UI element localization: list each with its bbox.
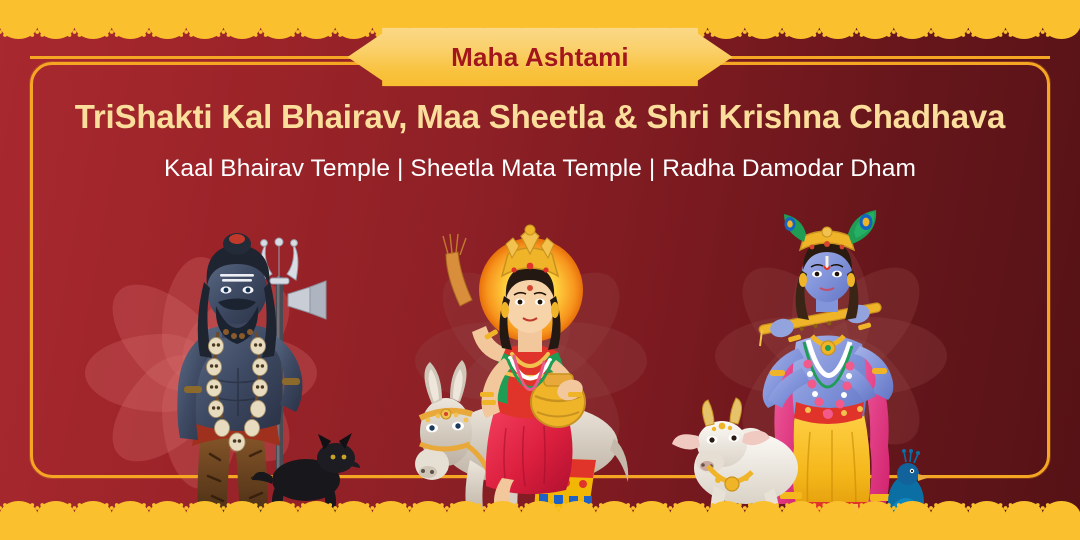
scallop-dot — [78, 503, 82, 507]
scallop-dot — [524, 503, 528, 507]
scallop-dot — [822, 503, 826, 507]
scallop-dot — [892, 506, 896, 510]
bottom-scallop-border — [0, 494, 1080, 540]
sheetla-crown — [502, 225, 558, 276]
scallop-dot — [3, 503, 7, 507]
ribbon-rule-left — [30, 56, 358, 59]
scallop-dot — [328, 503, 332, 507]
scallop-dot — [1009, 503, 1013, 507]
scallop-dot — [217, 503, 221, 507]
scallop-dot — [850, 503, 854, 507]
scallop-dot — [817, 506, 821, 510]
scallop-dot — [450, 503, 454, 507]
scallop-dot — [860, 503, 864, 507]
scallop-dot — [440, 503, 444, 507]
scallop-dot — [812, 503, 816, 507]
scallop-dot — [371, 506, 375, 510]
scallop-dot — [636, 503, 640, 507]
krishna-crown — [800, 227, 854, 250]
scallop-dot — [254, 503, 258, 507]
scallop-dot — [557, 506, 561, 510]
scallop-dot — [105, 503, 109, 507]
scallop-dot — [291, 503, 295, 507]
scallop-dot — [966, 506, 970, 510]
scallop-dot — [599, 503, 603, 507]
scallop-dot — [301, 503, 305, 507]
scallop-dot — [631, 506, 635, 510]
scallop-dot — [887, 503, 891, 507]
scallop-dot — [115, 503, 119, 507]
scallop-dot — [264, 503, 268, 507]
scallop-dot — [142, 503, 146, 507]
scallop-dot — [184, 506, 188, 510]
ribbon-rule-right — [722, 56, 1050, 59]
heading-block: TriShakti Kal Bhairav, Maa Sheetla & Shr… — [0, 98, 1080, 183]
temple-list: Kaal Bhairav Temple | Sheetla Mata Templ… — [0, 155, 1080, 183]
scallop-dot — [552, 503, 556, 507]
scallop-dot — [482, 506, 486, 510]
scallop-dot — [477, 503, 481, 507]
scallop-dot — [971, 503, 975, 507]
scallop-dot — [514, 503, 518, 507]
scallop-dot — [519, 506, 523, 510]
scallop-dot — [35, 506, 39, 510]
scallop-dot — [929, 506, 933, 510]
deity-maa-sheetla — [398, 232, 660, 524]
scallop-dot — [296, 506, 300, 510]
scallop-dot — [376, 503, 380, 507]
event-title: TriShakti Kal Bhairav, Maa Sheetla & Shr… — [0, 98, 1080, 137]
scallop-dot — [706, 506, 710, 510]
scallop-dot — [663, 503, 667, 507]
scallop-dot — [961, 503, 965, 507]
scallop-dot — [152, 503, 156, 507]
scallop-dot — [333, 506, 337, 510]
scallop-dot — [110, 506, 114, 510]
scallop-dot — [30, 503, 34, 507]
scallop-dot — [1004, 506, 1008, 510]
scallop-dot — [147, 506, 151, 510]
scallop-dot — [855, 506, 859, 510]
scallop-dot — [403, 503, 407, 507]
scallop-dot — [1036, 503, 1040, 507]
sheetla-broom — [443, 234, 472, 306]
scallop-dot — [1041, 506, 1045, 510]
scallop-dot — [589, 503, 593, 507]
scallop-dot — [785, 503, 789, 507]
scallop-dot — [934, 503, 938, 507]
festival-banner: // build lotus petals procedurally (layo… — [0, 0, 1080, 540]
scallop-dot — [259, 506, 263, 510]
scallop-dot — [711, 503, 715, 507]
scallop-dot — [924, 503, 928, 507]
scallop-dot — [738, 503, 742, 507]
scallop-dot — [999, 503, 1003, 507]
scallop-dot — [594, 506, 598, 510]
scallop-dot — [626, 503, 630, 507]
scallop-dot — [673, 503, 677, 507]
scallop-dot — [743, 506, 747, 510]
deity-kal-bhairav — [130, 228, 360, 518]
deity-shri-krishna — [700, 236, 940, 526]
scallop-dot — [897, 503, 901, 507]
scallop-dot — [487, 503, 491, 507]
scallop-dot — [408, 506, 412, 510]
scallop-dot — [1046, 503, 1050, 507]
scallop-dot — [227, 503, 231, 507]
scallop-dot — [338, 503, 342, 507]
scallop-dot — [413, 503, 417, 507]
scallop-dot — [189, 503, 193, 507]
ribbon-banner: Maha Ashtami — [0, 25, 1080, 89]
scallop-dot — [562, 503, 566, 507]
scallop-dot — [73, 506, 77, 510]
scallop-dot — [668, 506, 672, 510]
scallop-dot — [748, 503, 752, 507]
scallop-dot — [179, 503, 183, 507]
scallop-dot — [445, 506, 449, 510]
scallop-dot — [222, 506, 226, 510]
scallop-dot — [40, 503, 44, 507]
ribbon-label: Maha Ashtami — [451, 42, 629, 73]
scallop-dot — [780, 506, 784, 510]
scallop-dot — [68, 503, 72, 507]
ribbon-plaque: Maha Ashtami — [348, 26, 733, 88]
scallop-dot — [775, 503, 779, 507]
scallop-dot — [366, 503, 370, 507]
scallop-dot — [701, 503, 705, 507]
